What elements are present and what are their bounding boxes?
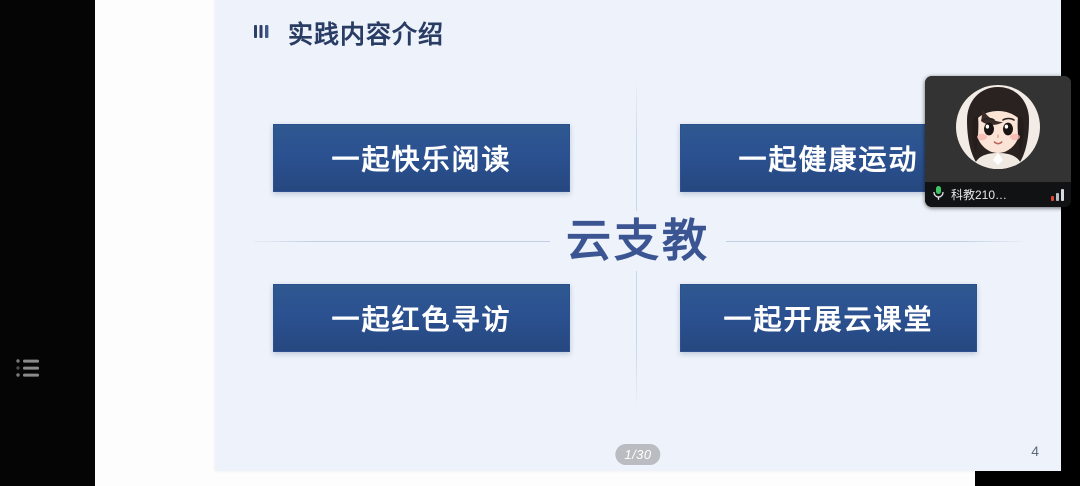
three-bars-icon (253, 22, 275, 49)
horizontal-divider (254, 241, 1022, 242)
topic-box-top-left[interactable]: 一起快乐阅读 (273, 124, 570, 192)
topic-box-bottom-left[interactable]: 一起红色寻访 (273, 284, 570, 352)
vertical-divider (636, 86, 637, 402)
topic-box-bottom-right[interactable]: 一起开展云课堂 (680, 284, 977, 352)
signal-bars-icon (1051, 189, 1064, 201)
cartoon-girl-avatar (955, 84, 1041, 175)
microphone-icon[interactable] (932, 185, 945, 205)
participant-name: 科教210… (951, 186, 1045, 203)
list-menu-icon (15, 357, 41, 379)
list-menu-button[interactable] (8, 348, 48, 388)
page-indicator[interactable]: 1/30 (615, 444, 660, 465)
topic-box-label: 一起健康运动 (738, 138, 918, 178)
webcam-thumbnail[interactable]: 科教210… (925, 76, 1071, 207)
webcam-video-area (925, 76, 1071, 182)
page-indicator-text: 1/30 (624, 447, 651, 462)
document-page: 实践内容介绍 一起快乐阅读 一起健康运动 一起红色寻访 一起开展云课堂 云支教 (95, 0, 975, 486)
webcam-status-bar: 科教210… (925, 182, 1071, 207)
left-rail (0, 0, 95, 486)
topic-box-label: 一起红色寻访 (331, 298, 511, 338)
slide-number: 4 (1031, 443, 1039, 459)
topic-box-label: 一起开展云课堂 (723, 298, 933, 338)
screen-root: 实践内容介绍 一起快乐阅读 一起健康运动 一起红色寻访 一起开展云课堂 云支教 (0, 0, 1080, 486)
slide-title: 实践内容介绍 (253, 22, 444, 49)
presentation-slide[interactable]: 实践内容介绍 一起快乐阅读 一起健康运动 一起红色寻访 一起开展云课堂 云支教 (215, 0, 1061, 471)
slide-title-text: 实践内容介绍 (288, 23, 444, 48)
topic-box-label: 一起快乐阅读 (331, 138, 511, 178)
